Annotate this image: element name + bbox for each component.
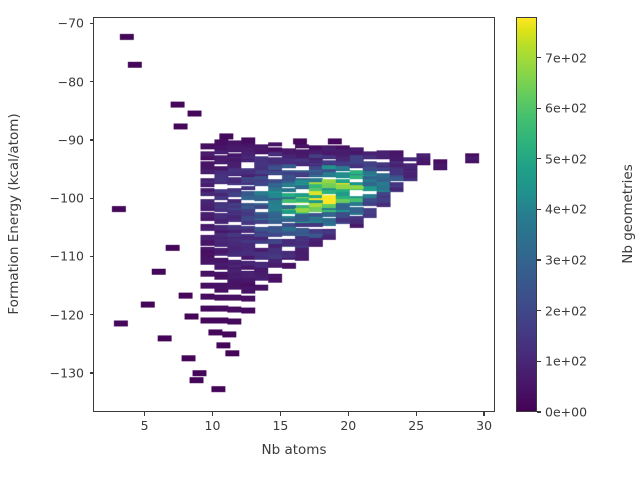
x-tick-mark — [144, 412, 145, 416]
y-tick-label: −70 — [0, 16, 84, 31]
colorbar-tick-mark — [537, 361, 541, 362]
heatmap-image — [94, 18, 494, 411]
y-tick-mark — [90, 372, 94, 373]
x-tick-label: 5 — [141, 418, 149, 433]
x-tick-label: 15 — [272, 418, 288, 433]
colorbar-tick-mark — [537, 158, 541, 159]
colorbar-tick-label: 2e+02 — [545, 303, 587, 318]
x-tick-label: 20 — [340, 418, 356, 433]
colorbar-tick-mark — [537, 209, 541, 210]
x-tick-mark — [483, 412, 484, 416]
figure-canvas: 51015202530 −70−80−90−100−110−120−130 Nb… — [0, 0, 640, 480]
colorbar-tick-label: 7e+02 — [545, 50, 587, 65]
x-tick-mark — [212, 412, 213, 416]
colorbar-tick-label: 1e+02 — [545, 354, 587, 369]
y-tick-mark — [90, 256, 94, 257]
plot-axes — [93, 17, 495, 412]
x-tick-label: 10 — [205, 418, 221, 433]
colorbar-tick-mark — [537, 411, 541, 412]
x-tick-mark — [416, 412, 417, 416]
colorbar-label: Nb geometries — [620, 164, 636, 263]
x-tick-label: 30 — [476, 418, 492, 433]
y-tick-label: −80 — [0, 74, 84, 89]
y-axis-label: Formation Energy (kcal/atom) — [6, 113, 22, 314]
x-tick-label: 25 — [408, 418, 424, 433]
x-tick-mark — [348, 412, 349, 416]
colorbar-tick-label: 4e+02 — [545, 202, 587, 217]
colorbar-tick-label: 6e+02 — [545, 101, 587, 116]
colorbar-tick-label: 3e+02 — [545, 253, 587, 268]
colorbar-tick-mark — [537, 259, 541, 260]
colorbar-tick-mark — [537, 57, 541, 58]
y-tick-mark — [90, 198, 94, 199]
colorbar-tick-label: 5e+02 — [545, 151, 587, 166]
x-axis-label: Nb atoms — [262, 442, 327, 458]
colorbar-tick-label: 0e+00 — [545, 405, 587, 420]
y-tick-mark — [90, 314, 94, 315]
y-tick-mark — [90, 139, 94, 140]
colorbar — [516, 17, 537, 412]
y-tick-mark — [90, 81, 94, 82]
colorbar-tick-mark — [537, 108, 541, 109]
colorbar-tick-mark — [537, 310, 541, 311]
x-tick-mark — [280, 412, 281, 416]
y-tick-label: −130 — [0, 365, 84, 380]
y-tick-mark — [90, 23, 94, 24]
